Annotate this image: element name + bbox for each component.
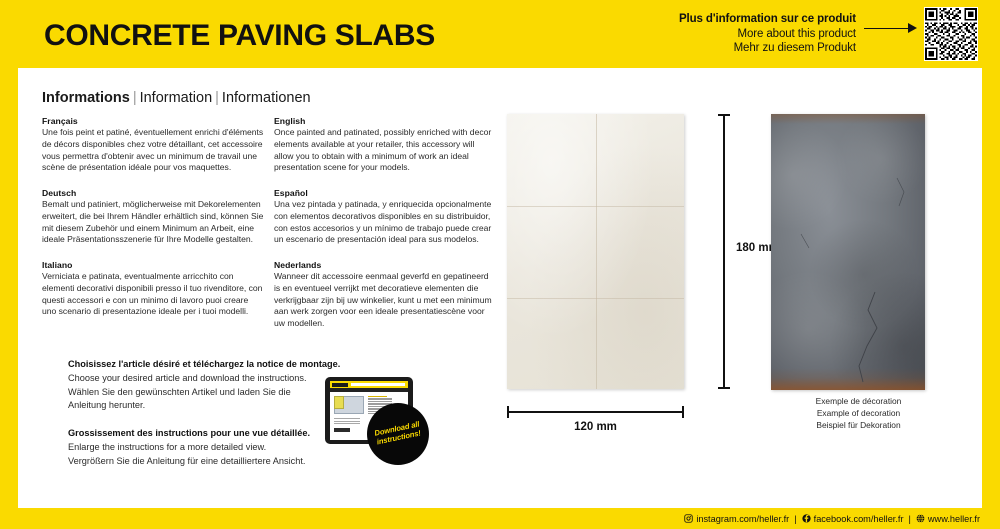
screen-logo — [332, 383, 348, 387]
slab-seam-horizontal-1 — [507, 206, 684, 207]
qr-info-block: Plus d'information sur ce produit More a… — [679, 7, 978, 61]
qr-caption-de: Mehr zu diesem Produkt — [679, 41, 856, 56]
decor-crack-lines — [771, 114, 925, 390]
lang-block-english: English Once painted and patinated, poss… — [274, 116, 496, 174]
footer-label-website: www.heller.fr — [928, 514, 980, 524]
footer-bar: instagram.com/heller.fr | facebook.com/h… — [0, 508, 1000, 529]
height-dimension-line — [718, 114, 730, 389]
page-title: CONCRETE PAVING SLABS — [44, 19, 435, 53]
download-paragraph-1: Choisissez l'article désiré et télécharg… — [68, 358, 368, 413]
lang-body: Une fois peint et patiné, éventuellement… — [42, 127, 264, 174]
lang-body: Once painted and patinated, possibly enr… — [274, 127, 496, 174]
footer-separator-2: | — [904, 514, 916, 524]
lang-body: Bemalt und patiniert, möglicherweise mit… — [42, 199, 264, 246]
footer-label-facebook: facebook.com/heller.fr — [814, 514, 904, 524]
download-head-fr: Choisissez l'article désiré et télécharg… — [68, 358, 368, 372]
decoration-example-photo — [771, 114, 925, 390]
qr-caption-fr: Plus d'information sur ce produit — [679, 12, 856, 27]
product-info-sheet: CONCRETE PAVING SLABS Plus d'information… — [0, 0, 1000, 529]
heading-fr: Informations — [42, 90, 130, 106]
badge-text: Download all instructions! — [368, 419, 428, 449]
lang-title: Italiano — [42, 260, 264, 270]
lang-body: Verniciata e patinata, eventualmente arr… — [42, 271, 264, 318]
slab-seam-horizontal-2 — [507, 298, 684, 299]
globe-icon — [916, 514, 925, 523]
download-instructions-block: Choisissez l'article désiré et télécharg… — [68, 358, 368, 483]
download-paragraph-2: Grossissement des instructions pour une … — [68, 427, 368, 468]
qr-caption-group: Plus d'information sur ce produit More a… — [679, 12, 862, 56]
footer-label-instagram: instagram.com/heller.fr — [696, 514, 789, 524]
decor-caption-en: Example of decoration — [771, 408, 946, 420]
width-dimension-line — [507, 406, 684, 418]
qr-code-icon[interactable] — [924, 7, 978, 61]
footer-link-instagram[interactable]: instagram.com/heller.fr — [684, 514, 789, 524]
lang-block-italiano: Italiano Verniciata e patinata, eventual… — [42, 260, 264, 330]
facebook-icon — [802, 514, 811, 523]
heading-sep-1: | — [130, 90, 140, 106]
screen-lower-lines — [334, 418, 360, 426]
download-line-de-2: Anleitung herunter. — [68, 399, 368, 413]
screen-search-field — [351, 383, 405, 386]
instagram-icon — [684, 514, 693, 523]
lang-title: English — [274, 116, 496, 126]
informations-heading: Informations|Information|Informationen — [42, 90, 311, 106]
heading-de: Informationen — [222, 90, 311, 106]
screen-body — [330, 392, 408, 398]
download-line-de-1: Wählen Sie den gewünschten Artikel und l… — [68, 386, 368, 400]
footer-link-website[interactable]: www.heller.fr — [916, 514, 980, 524]
enlarge-head-fr: Grossissement des instructions pour une … — [68, 427, 368, 441]
tablet-illustration: Download all instructions! — [325, 377, 435, 467]
lang-block-espanol: Español Una vez pintada y patinada, y en… — [274, 188, 496, 246]
decor-caption-de: Beispiel für Dekoration — [771, 420, 946, 432]
lang-title: Nederlands — [274, 260, 496, 270]
screen-boxart-image — [334, 396, 344, 409]
decor-caption-fr: Exemple de décoration — [771, 396, 946, 408]
qr-caption-en: More about this product — [679, 27, 856, 42]
lang-block-francais: Français Une fois peint et patiné, évent… — [42, 116, 264, 174]
lang-block-nederlands: Nederlands Wanneer dit accessoire eenmaa… — [274, 260, 496, 330]
language-blocks: Français Une fois peint et patiné, évent… — [42, 116, 497, 330]
slab-seam-vertical — [596, 114, 597, 389]
enlarge-line-de: Vergrößern Sie die Anleitung für eine de… — [68, 455, 368, 469]
arrow-right-icon — [864, 22, 920, 36]
screen-price-block — [334, 428, 350, 432]
download-all-instructions-badge[interactable]: Download all instructions! — [367, 403, 429, 465]
heading-sep-2: | — [212, 90, 222, 106]
content-panel: Informations|Information|Informationen F… — [18, 68, 982, 508]
download-line-en: Choose your desired article and download… — [68, 372, 368, 386]
lang-body: Wanneer dit accessoire eenmaal geverfd e… — [274, 271, 496, 330]
footer-separator-1: | — [789, 514, 801, 524]
lang-body: Una vez pintada y patinada, y enriquecid… — [274, 199, 496, 246]
heading-en: Information — [140, 90, 213, 106]
decoration-example-caption: Exemple de décoration Example of decorat… — [771, 396, 946, 432]
lang-title: Deutsch — [42, 188, 264, 198]
header-bar: CONCRETE PAVING SLABS Plus d'information… — [0, 0, 1000, 68]
enlarge-line-en: Enlarge the instructions for a more deta… — [68, 441, 368, 455]
lang-block-deutsch: Deutsch Bemalt und patiniert, möglicherw… — [42, 188, 264, 246]
screen-topbar — [330, 381, 408, 388]
lang-title: Español — [274, 188, 496, 198]
footer-link-facebook[interactable]: facebook.com/heller.fr — [802, 514, 904, 524]
concrete-paving-slabs-photo — [507, 114, 684, 389]
width-dimension-label: 120 mm — [507, 421, 684, 433]
lang-title: Français — [42, 116, 264, 126]
